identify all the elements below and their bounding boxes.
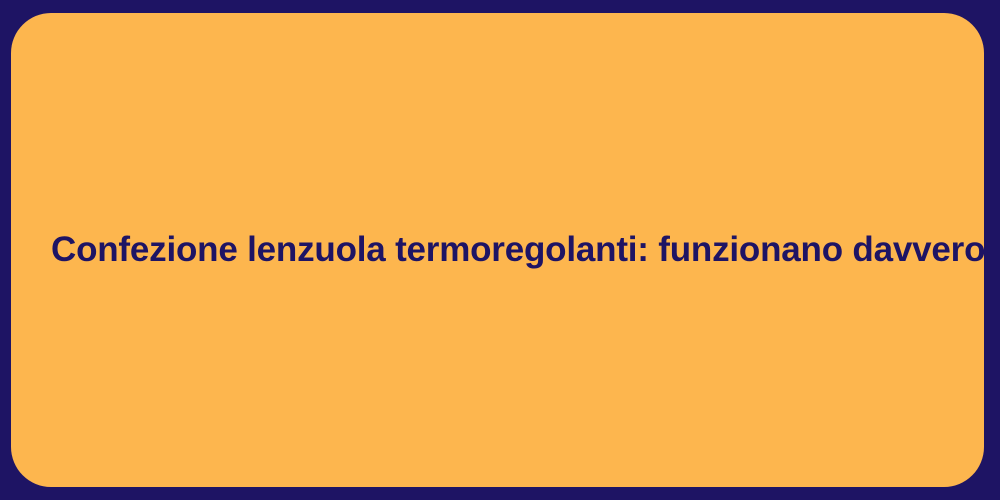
banner-card: Confezione lenzuola termoregolanti: funz… — [11, 13, 984, 487]
banner-title: Confezione lenzuola termoregolanti: funz… — [11, 229, 984, 271]
banner-background: Confezione lenzuola termoregolanti: funz… — [0, 0, 1000, 500]
